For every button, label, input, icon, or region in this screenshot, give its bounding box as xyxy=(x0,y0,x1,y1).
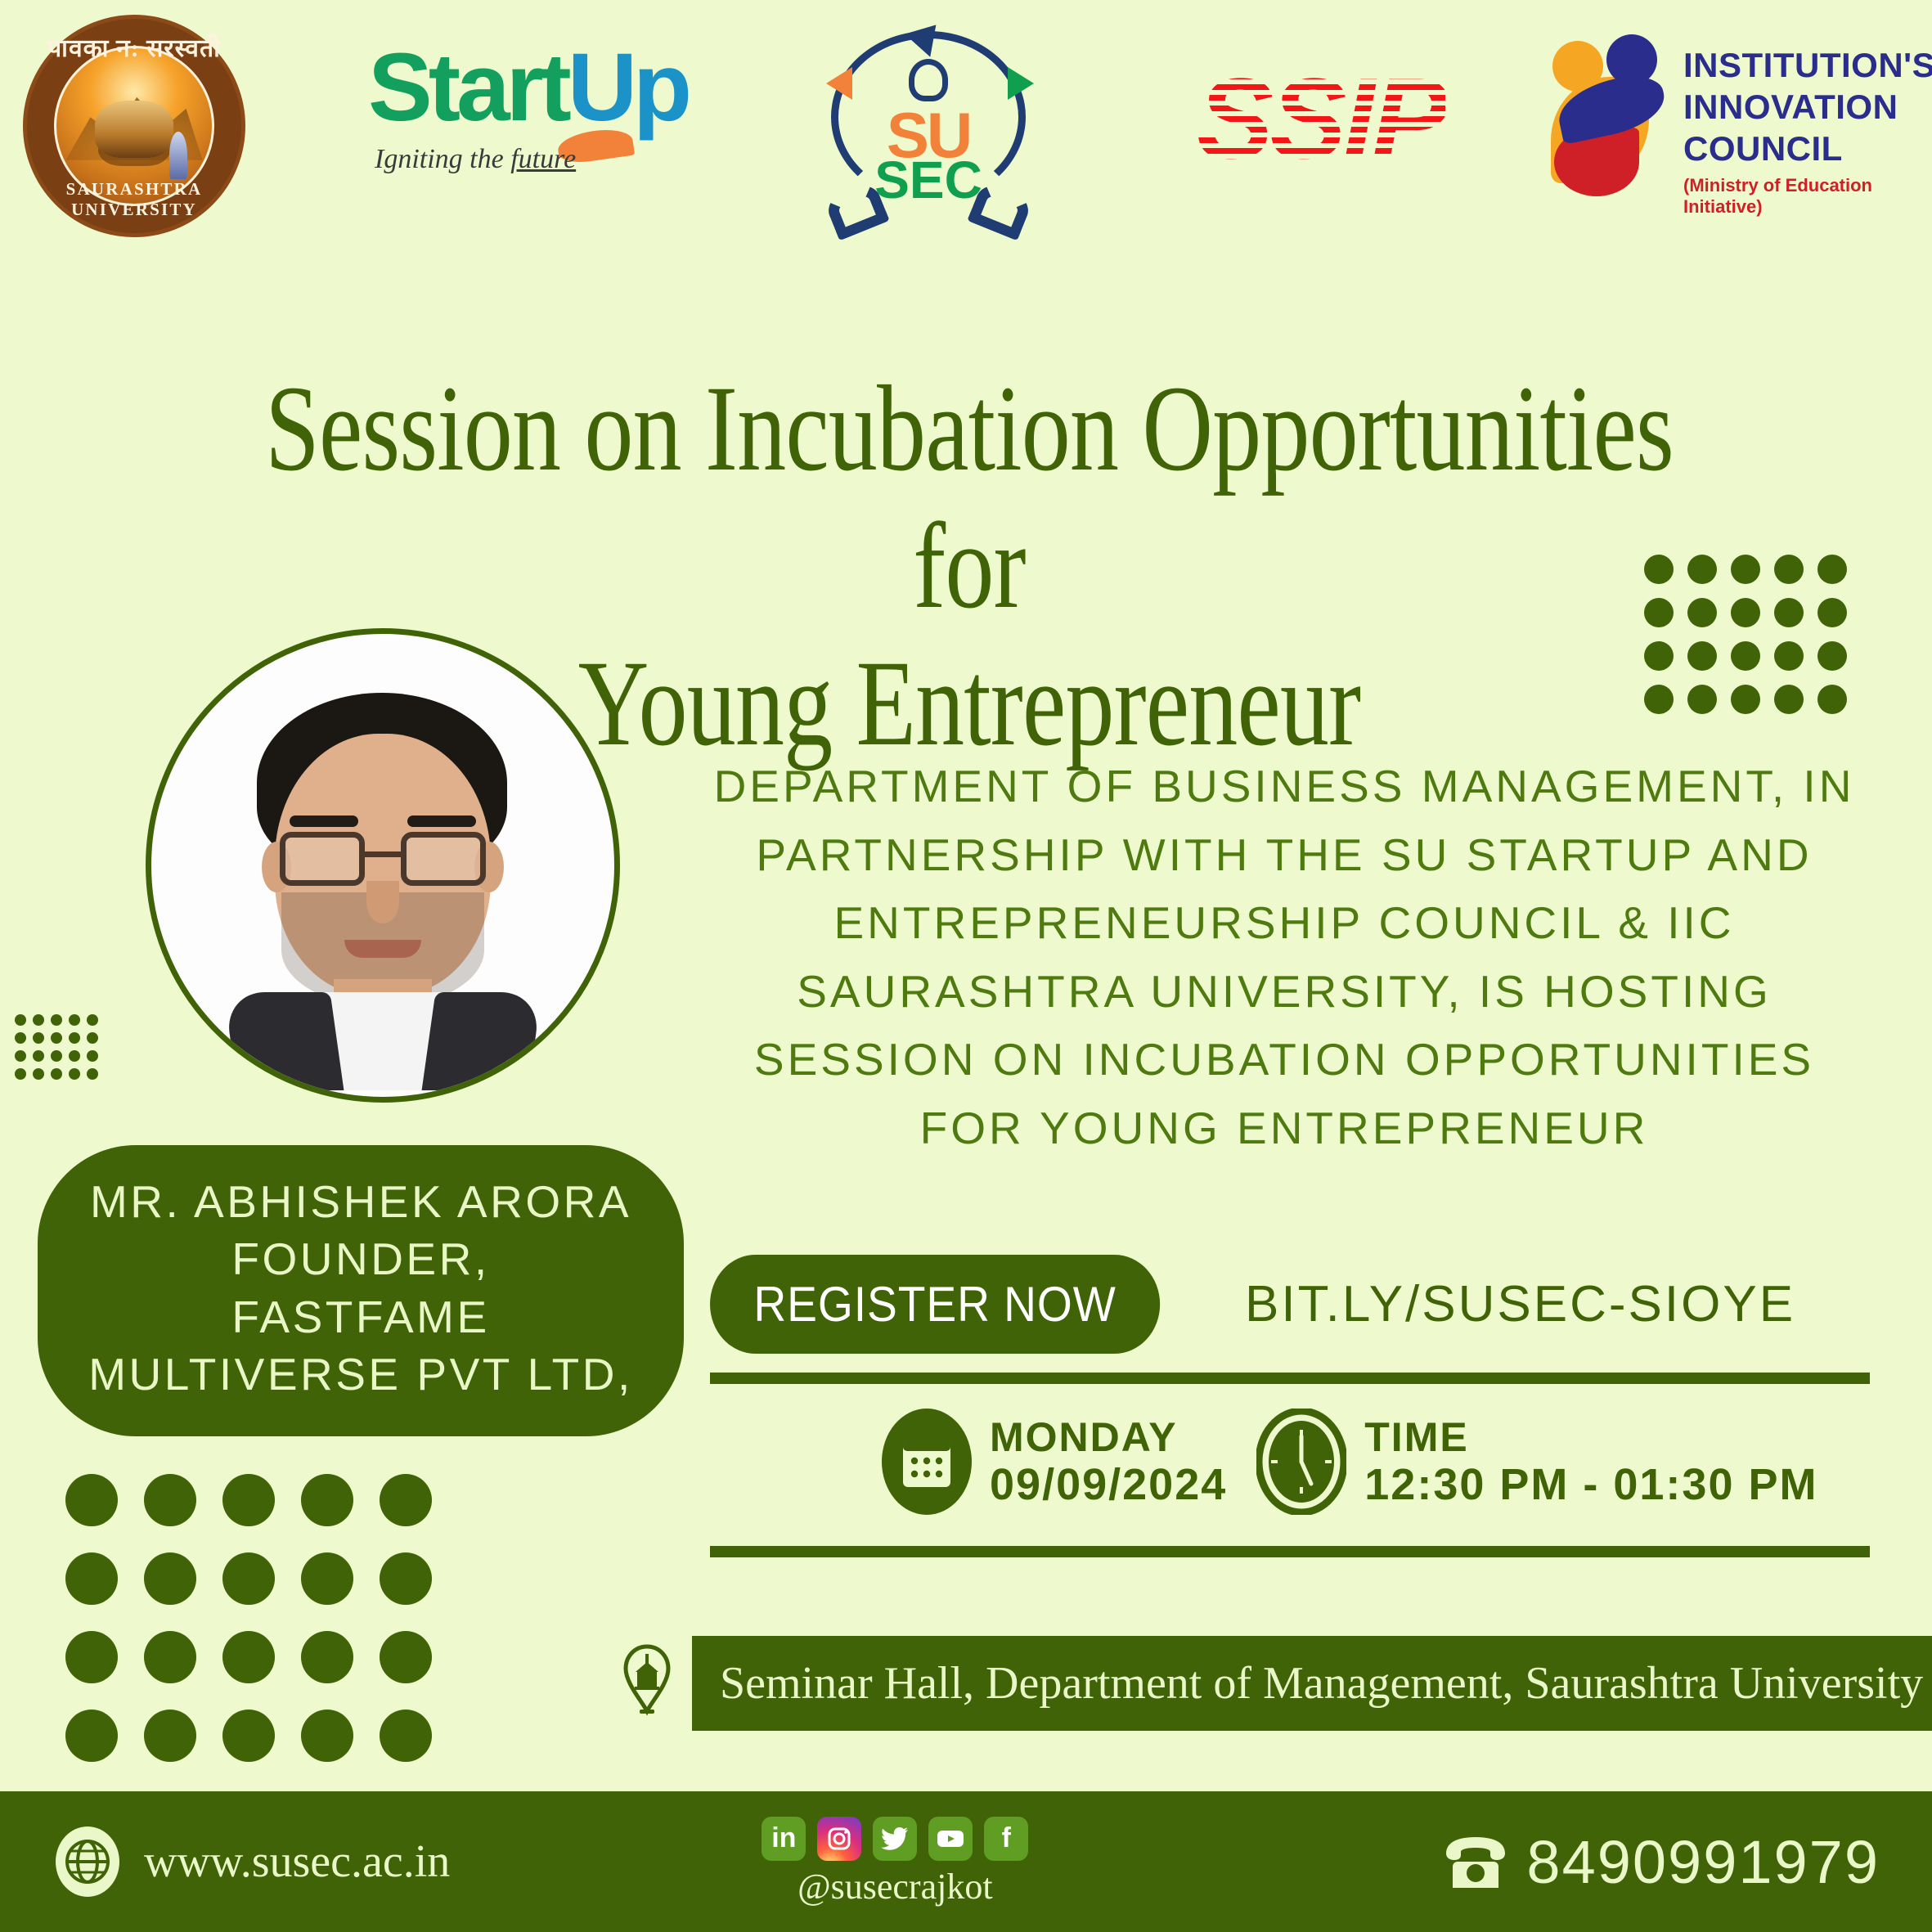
susec-arrow-head-right-icon xyxy=(1008,67,1034,100)
venue-row: Seminar Hall, Department of Management, … xyxy=(622,1636,1932,1731)
decor-dot xyxy=(15,1068,26,1080)
decor-dot xyxy=(69,1068,80,1080)
social-icons: in xyxy=(762,1817,1028,1861)
decor-dot xyxy=(144,1631,196,1683)
divider-bottom xyxy=(710,1546,1870,1557)
footer-website[interactable]: www.susec.ac.in xyxy=(144,1835,450,1888)
decor-dot xyxy=(33,1068,44,1080)
speaker-company-line-1: FASTFAME xyxy=(70,1288,651,1346)
decor-dot xyxy=(144,1710,196,1762)
seal-arc-text: SAURASHTRA UNIVERSITY xyxy=(27,179,241,220)
decor-dot xyxy=(1687,598,1717,627)
startup-logo: StartUp Igniting the future xyxy=(368,39,712,203)
event-day: MONDAY xyxy=(990,1414,1227,1460)
logo-bar: पावका न: सरस्वती SAURASHTRA UNIVERSITY S… xyxy=(0,0,1932,245)
decor-dot xyxy=(15,1014,26,1026)
decor-dot xyxy=(1731,685,1760,714)
decor-dot xyxy=(87,1068,98,1080)
decor-dot xyxy=(301,1474,353,1526)
speaker-role: FOUNDER, xyxy=(70,1230,651,1287)
decor-dot xyxy=(69,1050,80,1062)
decor-dot xyxy=(65,1552,118,1605)
linkedin-icon[interactable]: in xyxy=(762,1817,806,1861)
susec-lightbulb-icon xyxy=(909,59,948,101)
decor-dot xyxy=(301,1552,353,1605)
decor-dot xyxy=(33,1014,44,1026)
globe-icon xyxy=(52,1826,123,1897)
decor-dot xyxy=(1817,598,1847,627)
footer-social-group: in xyxy=(762,1817,1028,1907)
venue-text: Seminar Hall, Department of Management, … xyxy=(692,1636,1932,1731)
iic-figure-mark-icon xyxy=(1546,29,1677,193)
dot-grid-top-right xyxy=(1644,555,1861,728)
speaker-glasses-icon xyxy=(280,832,486,886)
decor-dot xyxy=(1644,555,1674,584)
decor-dot xyxy=(69,1014,80,1026)
startup-tagline-a: Igniting the xyxy=(375,144,510,174)
decor-dot xyxy=(222,1631,275,1683)
iic-subtitle: (Ministry of Education Initiative) xyxy=(1683,175,1932,218)
decor-dot xyxy=(51,1032,62,1044)
ssip-logo: SSIP xyxy=(1161,49,1480,188)
footer-phone[interactable]: 8490991979 xyxy=(1526,1827,1880,1897)
title-line-1: Session on Incubation Opportunities for xyxy=(246,360,1692,635)
iic-line-2: INNOVATION xyxy=(1683,86,1932,128)
speaker-portrait-illustration xyxy=(211,688,555,1081)
decor-dot xyxy=(1817,641,1847,671)
facebook-icon[interactable]: f xyxy=(984,1817,1028,1861)
footer-website-group: www.susec.ac.in xyxy=(52,1826,450,1897)
event-date: 09/09/2024 xyxy=(990,1460,1227,1509)
location-pin-icon xyxy=(622,1644,672,1723)
footer-bar: www.susec.ac.in in xyxy=(0,1791,1932,1932)
dot-grid-bottom-left xyxy=(65,1474,458,1788)
susec-arrow-head-left-icon xyxy=(826,67,852,100)
decor-dot xyxy=(51,1014,62,1026)
startup-tagline-b: future xyxy=(510,144,576,174)
decor-dot xyxy=(51,1068,62,1080)
iic-wordmark: INSTITUTION'S INNOVATION COUNCIL (Minist… xyxy=(1683,44,1932,218)
decor-dot xyxy=(380,1631,432,1683)
youtube-icon[interactable] xyxy=(928,1817,973,1861)
decor-dot xyxy=(1731,598,1760,627)
decor-dot xyxy=(87,1050,98,1062)
decor-dot xyxy=(33,1032,44,1044)
time-value: 12:30 PM - 01:30 PM xyxy=(1364,1460,1817,1509)
iic-line-1: INSTITUTION'S xyxy=(1683,44,1932,86)
decor-dot xyxy=(1731,641,1760,671)
decor-dot xyxy=(380,1710,432,1762)
instagram-icon[interactable] xyxy=(817,1817,861,1861)
decor-dot xyxy=(1774,598,1804,627)
telephone-icon xyxy=(1438,1832,1513,1891)
decor-dot xyxy=(144,1474,196,1526)
dot-grid-left xyxy=(15,1014,105,1086)
schedule-row: MONDAY 09/09/2024 TIME 12:30 PM - 01:30 … xyxy=(882,1409,1817,1515)
decor-dot xyxy=(222,1552,275,1605)
seal-sanskrit-text: पावका न: सरस्वती xyxy=(27,30,241,64)
startup-tagline: Igniting the future xyxy=(375,144,576,175)
social-handle: @susecrajkot xyxy=(798,1866,992,1907)
decor-dot xyxy=(1687,641,1717,671)
startup-word-up: Up xyxy=(568,34,688,142)
event-poster: पावका न: सरस्वती SAURASHTRA UNIVERSITY S… xyxy=(0,0,1932,1932)
decor-dot xyxy=(87,1014,98,1026)
decor-dot xyxy=(222,1710,275,1762)
decor-dot xyxy=(1687,555,1717,584)
speaker-avatar xyxy=(146,628,620,1103)
decor-dot xyxy=(222,1474,275,1526)
register-now-button[interactable]: REGISTER NOW xyxy=(710,1255,1160,1354)
decor-dot xyxy=(301,1710,353,1762)
event-description: DEPARTMENT OF BUSINESS MANAGEMENT, IN PA… xyxy=(712,753,1857,1163)
decor-dot xyxy=(15,1032,26,1044)
date-block: MONDAY 09/09/2024 xyxy=(882,1409,1227,1515)
register-row: REGISTER NOW BIT.LY/SUSEC-SIOYE xyxy=(710,1255,1871,1354)
iic-line-3: COUNCIL xyxy=(1683,128,1932,169)
decor-dot xyxy=(69,1032,80,1044)
decor-dot xyxy=(380,1552,432,1605)
decor-dot xyxy=(1644,641,1674,671)
decor-dot xyxy=(1731,555,1760,584)
time-block: TIME 12:30 PM - 01:30 PM xyxy=(1256,1409,1817,1515)
decor-dot xyxy=(1644,598,1674,627)
susec-sec-text: SEC xyxy=(874,154,982,206)
registration-link[interactable]: BIT.LY/SUSEC-SIOYE xyxy=(1245,1275,1795,1333)
decor-dot xyxy=(380,1474,432,1526)
decor-dot xyxy=(65,1710,118,1762)
speaker-company-line-2: MULTIVERSE PVT LTD, xyxy=(70,1346,651,1403)
seal-lion-graphic xyxy=(95,101,173,158)
decor-dot xyxy=(1817,685,1847,714)
twitter-icon[interactable] xyxy=(873,1817,917,1861)
footer-phone-group: 8490991979 xyxy=(1438,1827,1880,1897)
seal-rocket-graphic xyxy=(169,132,187,179)
calendar-icon xyxy=(882,1409,972,1515)
speaker-name-badge: MR. ABHISHEK ARORA FOUNDER, FASTFAME MUL… xyxy=(38,1145,684,1436)
decor-dot xyxy=(65,1474,118,1526)
clock-icon xyxy=(1256,1409,1346,1515)
divider-top xyxy=(710,1373,1870,1384)
iic-logo: INSTITUTION'S INNOVATION COUNCIL (Minist… xyxy=(1546,25,1906,213)
decor-dot xyxy=(87,1032,98,1044)
decor-dot xyxy=(1774,685,1804,714)
decor-dot xyxy=(65,1631,118,1683)
time-label: TIME xyxy=(1364,1414,1817,1460)
decor-dot xyxy=(1687,685,1717,714)
decor-dot xyxy=(144,1552,196,1605)
speaker-name: MR. ABHISHEK ARORA xyxy=(70,1173,651,1230)
decor-dot xyxy=(33,1050,44,1062)
saurashtra-university-seal-icon: पावका न: सरस्वती SAURASHTRA UNIVERSITY xyxy=(23,15,245,237)
susec-logo: SU SEC xyxy=(818,16,1039,237)
decor-dot xyxy=(15,1050,26,1062)
decor-dot xyxy=(1644,685,1674,714)
ssip-logo-text: SSIP xyxy=(1197,52,1445,185)
decor-dot xyxy=(1774,641,1804,671)
decor-dot xyxy=(51,1050,62,1062)
decor-dot xyxy=(301,1631,353,1683)
startup-word-start: Start xyxy=(368,34,568,142)
decor-dot xyxy=(1817,555,1847,584)
decor-dot xyxy=(1774,555,1804,584)
